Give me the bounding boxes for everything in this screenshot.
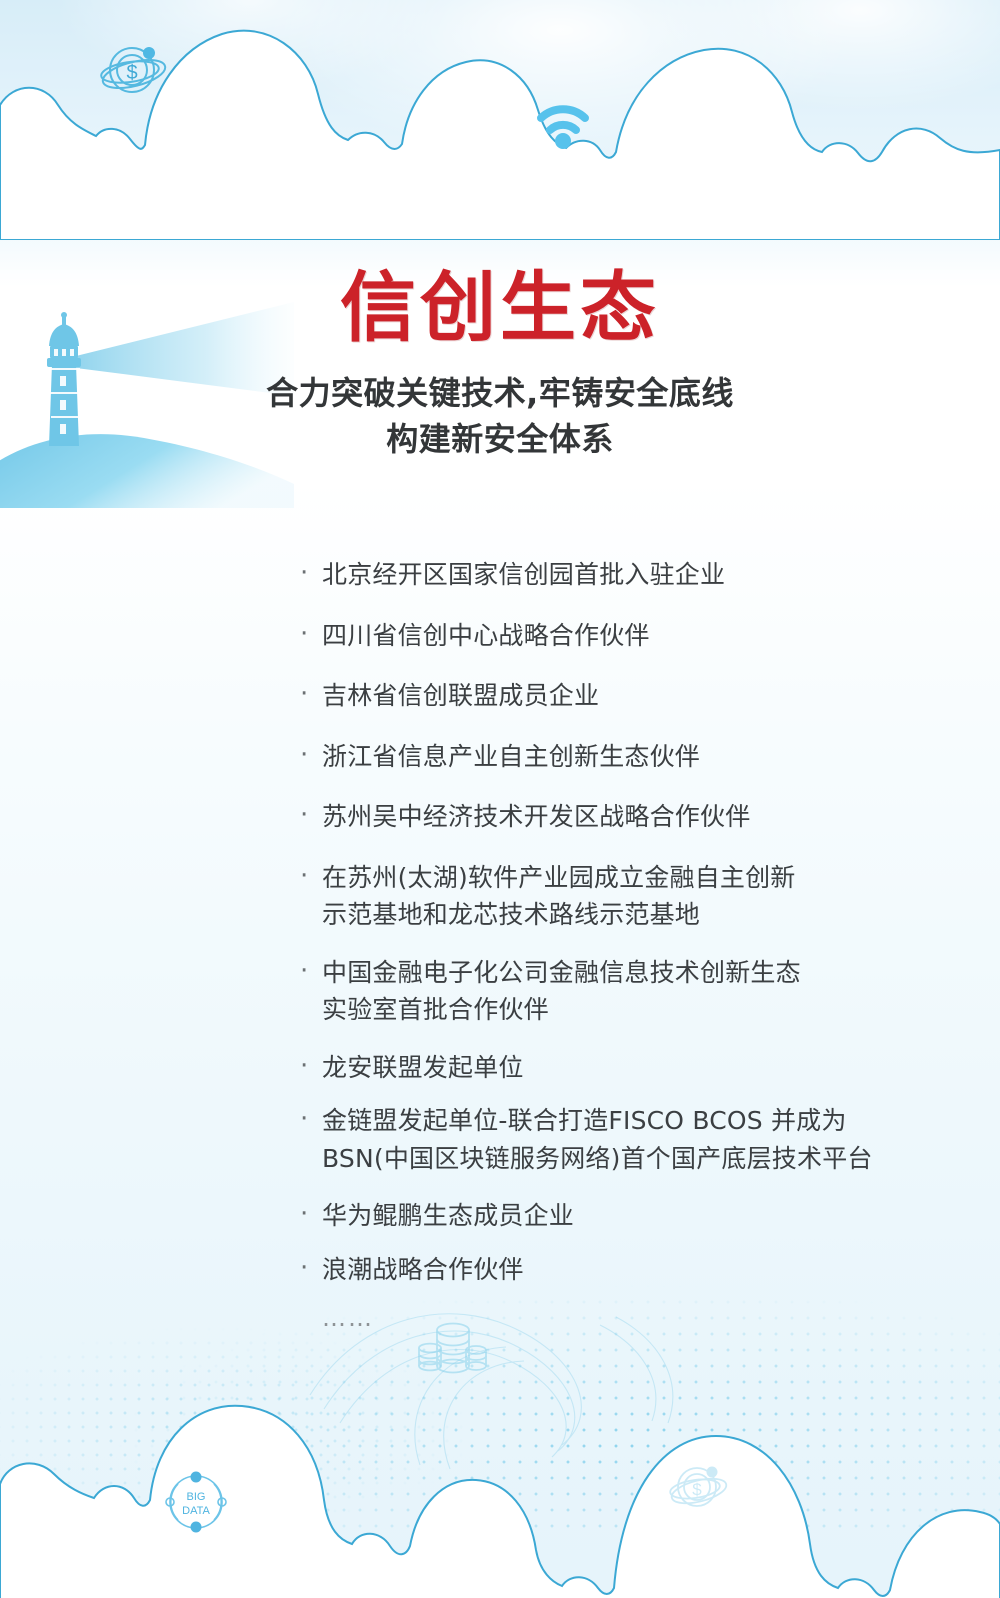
list-ellipsis: …… xyxy=(296,1304,936,1332)
poster-canvas: $ xyxy=(0,0,1000,1598)
list-item: 浙江省信息产业自主创新生态伙伴 xyxy=(296,738,936,776)
list-item: 华为鲲鹏生态成员企业 xyxy=(296,1197,936,1235)
list-item: 龙安联盟发起单位 xyxy=(296,1049,936,1087)
headline-block: 信创生态 合力突破关键技术,牢铸安全底线 构建新安全体系 xyxy=(0,268,1000,463)
list-item: 苏州吴中经济技术开发区战略合作伙伴 xyxy=(296,798,936,836)
list-item: 金链盟发起单位-联合打造FISCO BCOS 并成为 BSN(中国区块链服务网络… xyxy=(296,1102,936,1177)
page-title: 信创生态 xyxy=(0,268,1000,348)
subtitle-line-1: 合力突破关键技术,牢铸安全底线 xyxy=(266,374,734,412)
list-item: 中国金融电子化公司金融信息技术创新生态 实验室首批合作伙伴 xyxy=(296,954,936,1029)
list-item: 在苏州(太湖)软件产业园成立金融自主创新 示范基地和龙芯技术路线示范基地 xyxy=(296,859,936,934)
list-item: 四川省信创中心战略合作伙伴 xyxy=(296,617,936,655)
credentials-list: 北京经开区国家信创园首批入驻企业 四川省信创中心战略合作伙伴 吉林省信创联盟成员… xyxy=(296,556,936,1332)
list-item: 吉林省信创联盟成员企业 xyxy=(296,677,936,715)
list-item: 北京经开区国家信创园首批入驻企业 xyxy=(296,556,936,594)
list-item: 浪潮战略合作伙伴 xyxy=(296,1251,936,1289)
subtitle-line-2: 构建新安全体系 xyxy=(0,416,1000,462)
page-subtitle: 合力突破关键技术,牢铸安全底线 构建新安全体系 xyxy=(0,370,1000,463)
poster-content: 信创生态 合力突破关键技术,牢铸安全底线 构建新安全体系 北京经开区国家信创园首… xyxy=(0,0,1000,1598)
